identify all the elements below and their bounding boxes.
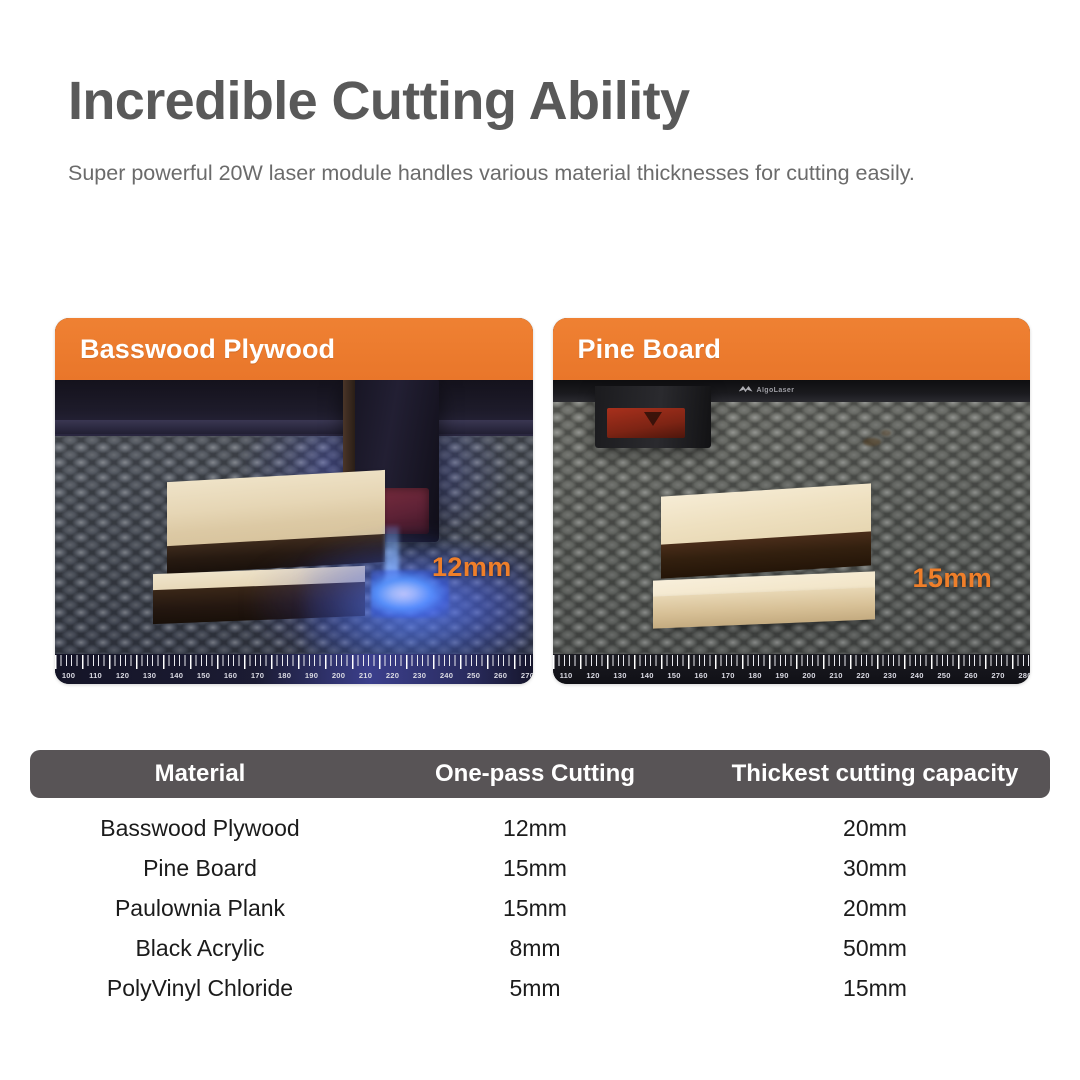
ruler-tick-label: 190 [298, 669, 325, 682]
card-header-basswood: Basswood Plywood [55, 318, 533, 380]
ruler-tick-label: 170 [715, 669, 742, 682]
table-row: Black Acrylic 8mm 50mm [30, 928, 1050, 968]
cell-thickest: 15mm [700, 975, 1050, 1002]
ruler-tick-label: 250 [931, 669, 958, 682]
measurement-label-pine: 15mm [913, 563, 993, 594]
ruler-tick-label: 100 [55, 669, 82, 682]
ruler-tick-label: 280 [1012, 669, 1031, 682]
ruler-tick-label: 210 [352, 669, 379, 682]
table-body: Basswood Plywood 12mm 20mm Pine Board 15… [30, 808, 1050, 1008]
ruler-tick-label: 150 [190, 669, 217, 682]
table-row: Pine Board 15mm 30mm [30, 848, 1050, 888]
ruler-tick-label: 250 [460, 669, 487, 682]
cell-thickest: 30mm [700, 855, 1050, 882]
material-card-gallery: Basswood Plywood [55, 318, 1030, 684]
ruler-tick-label: 270 [514, 669, 533, 682]
cell-material: Pine Board [30, 855, 370, 882]
cell-one-pass: 15mm [370, 895, 700, 922]
ruler-tick-label: 120 [580, 669, 607, 682]
ruler-tick-label: 240 [433, 669, 460, 682]
card-header-pine: Pine Board [553, 318, 1031, 380]
cell-thickest: 20mm [700, 895, 1050, 922]
ruler-tick-label: 240 [904, 669, 931, 682]
ruler-tick-label: 210 [823, 669, 850, 682]
column-header-material: Material [30, 760, 370, 788]
ruler-tick-label: 160 [217, 669, 244, 682]
ruler-tick-label: 180 [742, 669, 769, 682]
debris-speck [863, 438, 881, 446]
ruler-tick-label: 110 [82, 669, 109, 682]
ruler-numbers-basswood: 100 110 120 130 140 150 160 170 180 190 … [55, 669, 533, 682]
debris-speck [881, 430, 891, 436]
ruler-numbers-pine: 110 120 130 140 150 160 170 180 190 200 … [553, 669, 1031, 682]
brand-logo-algolaser: AlgoLaser [739, 384, 843, 396]
column-header-thickest-cutting-capacity: Thickest cutting capacity [700, 760, 1050, 788]
cell-material: Paulownia Plank [30, 895, 370, 922]
cell-one-pass: 8mm [370, 935, 700, 962]
ruler-tick-label: 200 [796, 669, 823, 682]
ruler-tick-label: 260 [487, 669, 514, 682]
cell-one-pass: 5mm [370, 975, 700, 1002]
page-title: Incredible Cutting Ability [68, 72, 1028, 130]
column-header-one-pass-cutting: One-pass Cutting [370, 760, 700, 788]
ruler-tick-label: 160 [688, 669, 715, 682]
ruler-major-ticks [55, 655, 533, 669]
ruler-major-ticks [553, 655, 1031, 669]
brand-name-label: AlgoLaser [757, 387, 795, 394]
table-row: Basswood Plywood 12mm 20mm [30, 808, 1050, 848]
cell-one-pass: 12mm [370, 815, 700, 842]
ruler-tick-label: 270 [985, 669, 1012, 682]
ruler-tick-label: 130 [607, 669, 634, 682]
ruler-basswood: 100 110 120 130 140 150 160 170 180 190 … [55, 654, 533, 684]
ruler-tick-label: 110 [553, 669, 580, 682]
cell-material: Basswood Plywood [30, 815, 370, 842]
material-card-basswood-plywood[interactable]: Basswood Plywood [55, 318, 533, 684]
cell-material: PolyVinyl Chloride [30, 975, 370, 1002]
product-feature-page: Incredible Cutting Ability Super powerfu… [0, 0, 1080, 1080]
table-row: Paulownia Plank 15mm 20mm [30, 888, 1050, 928]
table-row: PolyVinyl Chloride 5mm 15mm [30, 968, 1050, 1008]
ruler-pine: 110 120 130 140 150 160 170 180 190 200 … [553, 654, 1031, 684]
measurement-label-basswood: 12mm [432, 552, 512, 583]
page-subtitle: Super powerful 20W laser module handles … [68, 156, 948, 191]
cell-one-pass: 15mm [370, 855, 700, 882]
ruler-tick-label: 230 [877, 669, 904, 682]
ruler-tick-label: 200 [325, 669, 352, 682]
ruler-tick-label: 170 [244, 669, 271, 682]
ruler-tick-label: 130 [136, 669, 163, 682]
ruler-tick-label: 140 [163, 669, 190, 682]
card-title-basswood: Basswood Plywood [80, 334, 335, 365]
ruler-tick-label: 230 [406, 669, 433, 682]
cell-material: Black Acrylic [30, 935, 370, 962]
cell-thickest: 50mm [700, 935, 1050, 962]
ruler-tick-label: 140 [634, 669, 661, 682]
material-card-pine-board[interactable]: Pine Board AlgoLaser [553, 318, 1031, 684]
laser-head-triangle-icon [644, 412, 662, 426]
ruler-tick-label: 120 [109, 669, 136, 682]
cell-thickest: 20mm [700, 815, 1050, 842]
table-header-row: Material One-pass Cutting Thickest cutti… [30, 750, 1050, 798]
ruler-tick-label: 260 [958, 669, 985, 682]
cutting-capacity-table: Material One-pass Cutting Thickest cutti… [30, 750, 1050, 1008]
card-photo-pine: AlgoLaser 110 [553, 380, 1031, 684]
algolaser-mark-icon [739, 386, 753, 394]
card-title-pine: Pine Board [578, 334, 722, 365]
ruler-tick-label: 220 [379, 669, 406, 682]
ruler-tick-label: 180 [271, 669, 298, 682]
laser-head-pine [595, 386, 711, 448]
ruler-tick-label: 150 [661, 669, 688, 682]
card-photo-basswood: 100 110 120 130 140 150 160 170 180 190 … [55, 380, 533, 684]
heading-block: Incredible Cutting Ability Super powerfu… [68, 72, 1028, 191]
ruler-tick-label: 220 [850, 669, 877, 682]
ruler-tick-label: 190 [769, 669, 796, 682]
gantry-rail-basswood [55, 420, 533, 434]
